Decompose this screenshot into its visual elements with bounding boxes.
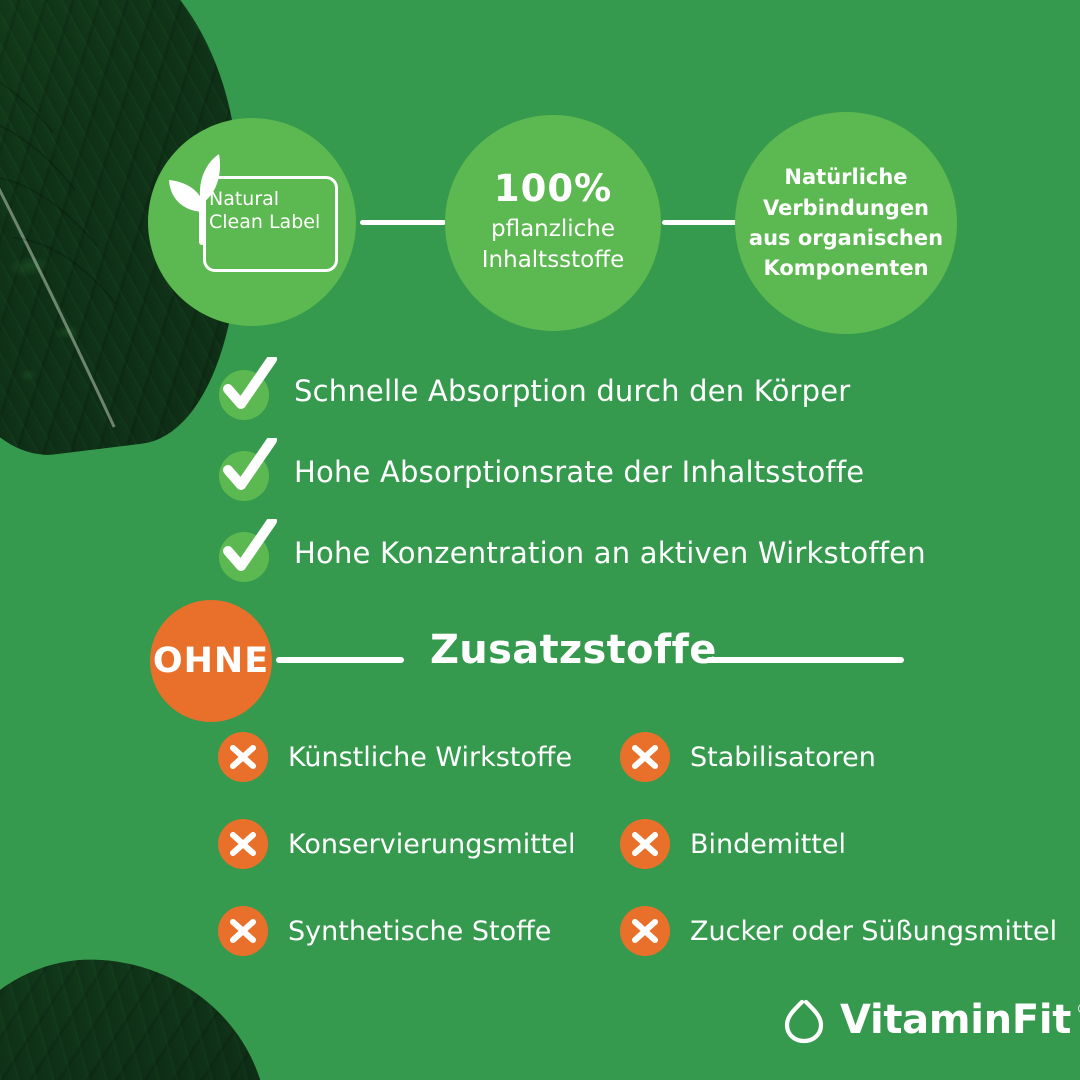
list-item: Zucker oder Süßungsmittel: [620, 906, 1057, 956]
exclusion-label: Synthetische Stoffe: [288, 916, 551, 947]
compounds-line-4: Komponenten: [749, 253, 943, 283]
badge-plant-based: 100% pflanzliche Inhaltsstoffe: [445, 115, 661, 331]
exclusions-list: Künstliche Wirkstoffe Stabilisatoren: [0, 732, 1080, 993]
plant-based-headline: 100%: [482, 170, 625, 209]
check-icon: [219, 526, 273, 580]
benefit-label: Hohe Absorptionsrate der Inhaltsstoffe: [294, 455, 864, 489]
exclusion-row: Künstliche Wirkstoffe Stabilisatoren: [0, 732, 1080, 819]
cross-icon: [218, 819, 268, 869]
exclusion-row: Synthetische Stoffe Zucker oder Süßungsm…: [0, 906, 1080, 993]
list-item: Hohe Absorptionsrate der Inhaltsstoffe: [0, 431, 1080, 512]
registered-mark: ®: [1076, 1000, 1080, 1018]
exclusion-label: Konservierungsmittel: [288, 829, 575, 860]
ncl-line-1: Natural: [209, 188, 335, 211]
check-icon: [219, 445, 273, 499]
ohne-badge: OHNE: [150, 600, 272, 722]
ohne-badge-label: OHNE: [153, 641, 269, 681]
exclusion-label: Bindemittel: [690, 829, 846, 860]
brand-name: VitaminFit: [840, 997, 1071, 1043]
exclusion-label: Zucker oder Süßungsmittel: [690, 916, 1057, 947]
cross-icon: [218, 732, 268, 782]
list-item: Künstliche Wirkstoffe: [218, 732, 572, 782]
plant-based-line-2: Inhaltsstoffe: [482, 245, 625, 276]
badge-natural-clean-label: Natural Clean Label: [148, 118, 356, 326]
connector-line-2: [662, 220, 738, 225]
divider-line-left: [276, 657, 404, 663]
cross-icon: [620, 819, 670, 869]
exclusion-label: Künstliche Wirkstoffe: [288, 742, 572, 773]
divider-line-right: [706, 657, 904, 663]
top-badge-row: Natural Clean Label 100% pflanzliche Inh…: [0, 0, 1080, 350]
exclusion-row: Konservierungsmittel Bindemittel: [0, 819, 1080, 906]
badge-natural-compounds: Natürliche Verbindungen aus organischen …: [735, 112, 957, 334]
benefits-list: Schnelle Absorption durch den Körper Hoh…: [0, 350, 1080, 593]
list-item: Konservierungsmittel: [218, 819, 575, 869]
droplet-outline-icon: [782, 996, 826, 1044]
brand-logo: VitaminFit ®: [782, 996, 1080, 1044]
without-section-header: OHNE Zusatzstoffe: [0, 598, 1080, 724]
list-item: Stabilisatoren: [620, 732, 876, 782]
compounds-line-2: Verbindungen: [749, 193, 943, 223]
compounds-line-1: Natürliche: [749, 162, 943, 192]
ncl-line-2: Clean Label: [209, 211, 335, 234]
benefit-label: Schnelle Absorption durch den Körper: [294, 374, 850, 408]
exclusion-label: Stabilisatoren: [690, 742, 876, 773]
connector-line-1: [360, 220, 446, 225]
compounds-line-3: aus organischen: [749, 223, 943, 253]
natural-clean-label-text: Natural Clean Label: [209, 188, 335, 234]
without-section-title: Zusatzstoffe: [430, 627, 717, 673]
cross-icon: [218, 906, 268, 956]
plant-based-line-1: pflanzliche: [482, 214, 625, 245]
promo-graphic: Natural Clean Label 100% pflanzliche Inh…: [0, 0, 1080, 1080]
check-icon: [219, 364, 273, 418]
list-item: Synthetische Stoffe: [218, 906, 551, 956]
list-item: Hohe Konzentration an aktiven Wirkstoffe…: [0, 512, 1080, 593]
list-item: Bindemittel: [620, 819, 846, 869]
natural-clean-label-mark: Natural Clean Label: [157, 152, 347, 292]
benefit-label: Hohe Konzentration an aktiven Wirkstoffe…: [294, 536, 926, 570]
cross-icon: [620, 906, 670, 956]
cross-icon: [620, 732, 670, 782]
list-item: Schnelle Absorption durch den Körper: [0, 350, 1080, 431]
